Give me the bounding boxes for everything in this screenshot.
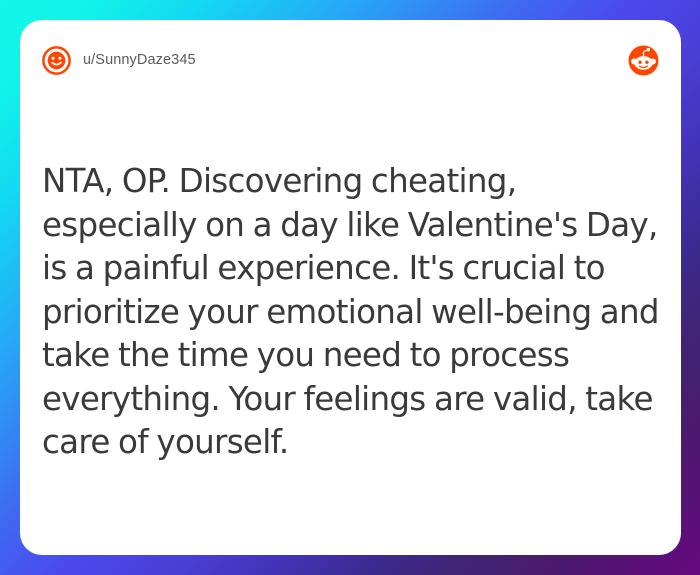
- username-label: u/SunnyDaze345: [83, 52, 196, 68]
- avatar[interactable]: [42, 46, 71, 75]
- gradient-backdrop: u/SunnyDaze345: [0, 0, 700, 575]
- smiley-avatar-icon: [42, 46, 71, 75]
- card-header: u/SunnyDaze345: [42, 38, 659, 82]
- reddit-logo[interactable]: [628, 45, 659, 76]
- reddit-comment-card: u/SunnyDaze345: [20, 20, 681, 555]
- card-body: NTA, OP. Discovering cheating, especiall…: [42, 160, 663, 465]
- post-text: NTA, OP. Discovering cheating, especiall…: [42, 160, 663, 465]
- reddit-snoo-icon: [628, 45, 659, 76]
